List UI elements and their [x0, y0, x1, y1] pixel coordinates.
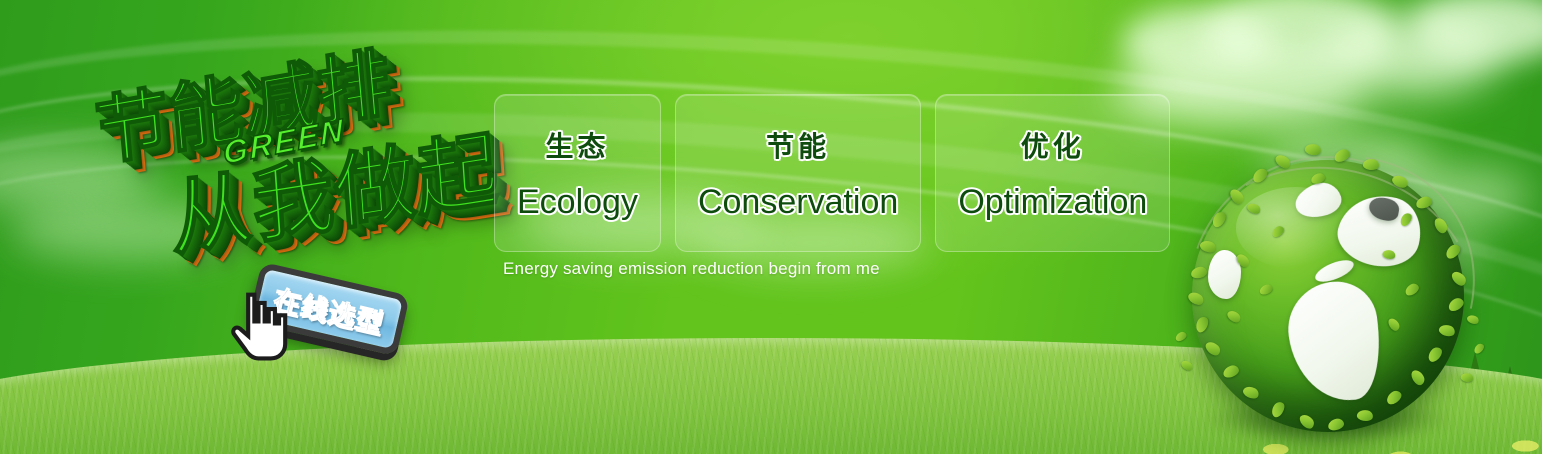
- feature-card-conservation[interactable]: 节能 Conservation: [675, 94, 921, 252]
- banner-tagline: Energy saving emission reduction begin f…: [503, 259, 880, 279]
- feature-card-list: 生态 Ecology 节能 Conservation 优化 Optimizati…: [494, 94, 1170, 252]
- landmass-south-america: [1282, 277, 1388, 408]
- green-energy-banner: 节能减排 GREEN 从我做起 在线选型 生态 Ecology 节能 Conse…: [0, 0, 1542, 454]
- feature-card-conservation-cn: 节能: [766, 125, 830, 165]
- feature-card-conservation-en: Conservation: [698, 183, 898, 222]
- online-selection-cta[interactable]: 在线选型: [248, 262, 410, 357]
- landmass-west-patch: [1208, 250, 1241, 299]
- feature-card-ecology-cn: 生态: [545, 125, 609, 165]
- feature-card-ecology[interactable]: 生态 Ecology: [494, 94, 661, 252]
- landmass-greenland: [1291, 178, 1345, 223]
- globe-sphere: [1192, 160, 1464, 432]
- online-selection-button-label: 在线选型: [270, 277, 388, 340]
- online-selection-button[interactable]: 在线选型: [248, 262, 410, 357]
- feature-card-optimization-en: Optimization: [958, 183, 1147, 222]
- feature-card-ecology-en: Ecology: [517, 183, 638, 222]
- feature-card-optimization-cn: 优化: [1021, 125, 1085, 165]
- feature-card-optimization[interactable]: 优化 Optimization: [935, 94, 1170, 252]
- headline-3d-art: 节能减排 GREEN 从我做起: [83, 13, 509, 300]
- ivy-globe: [1192, 160, 1464, 432]
